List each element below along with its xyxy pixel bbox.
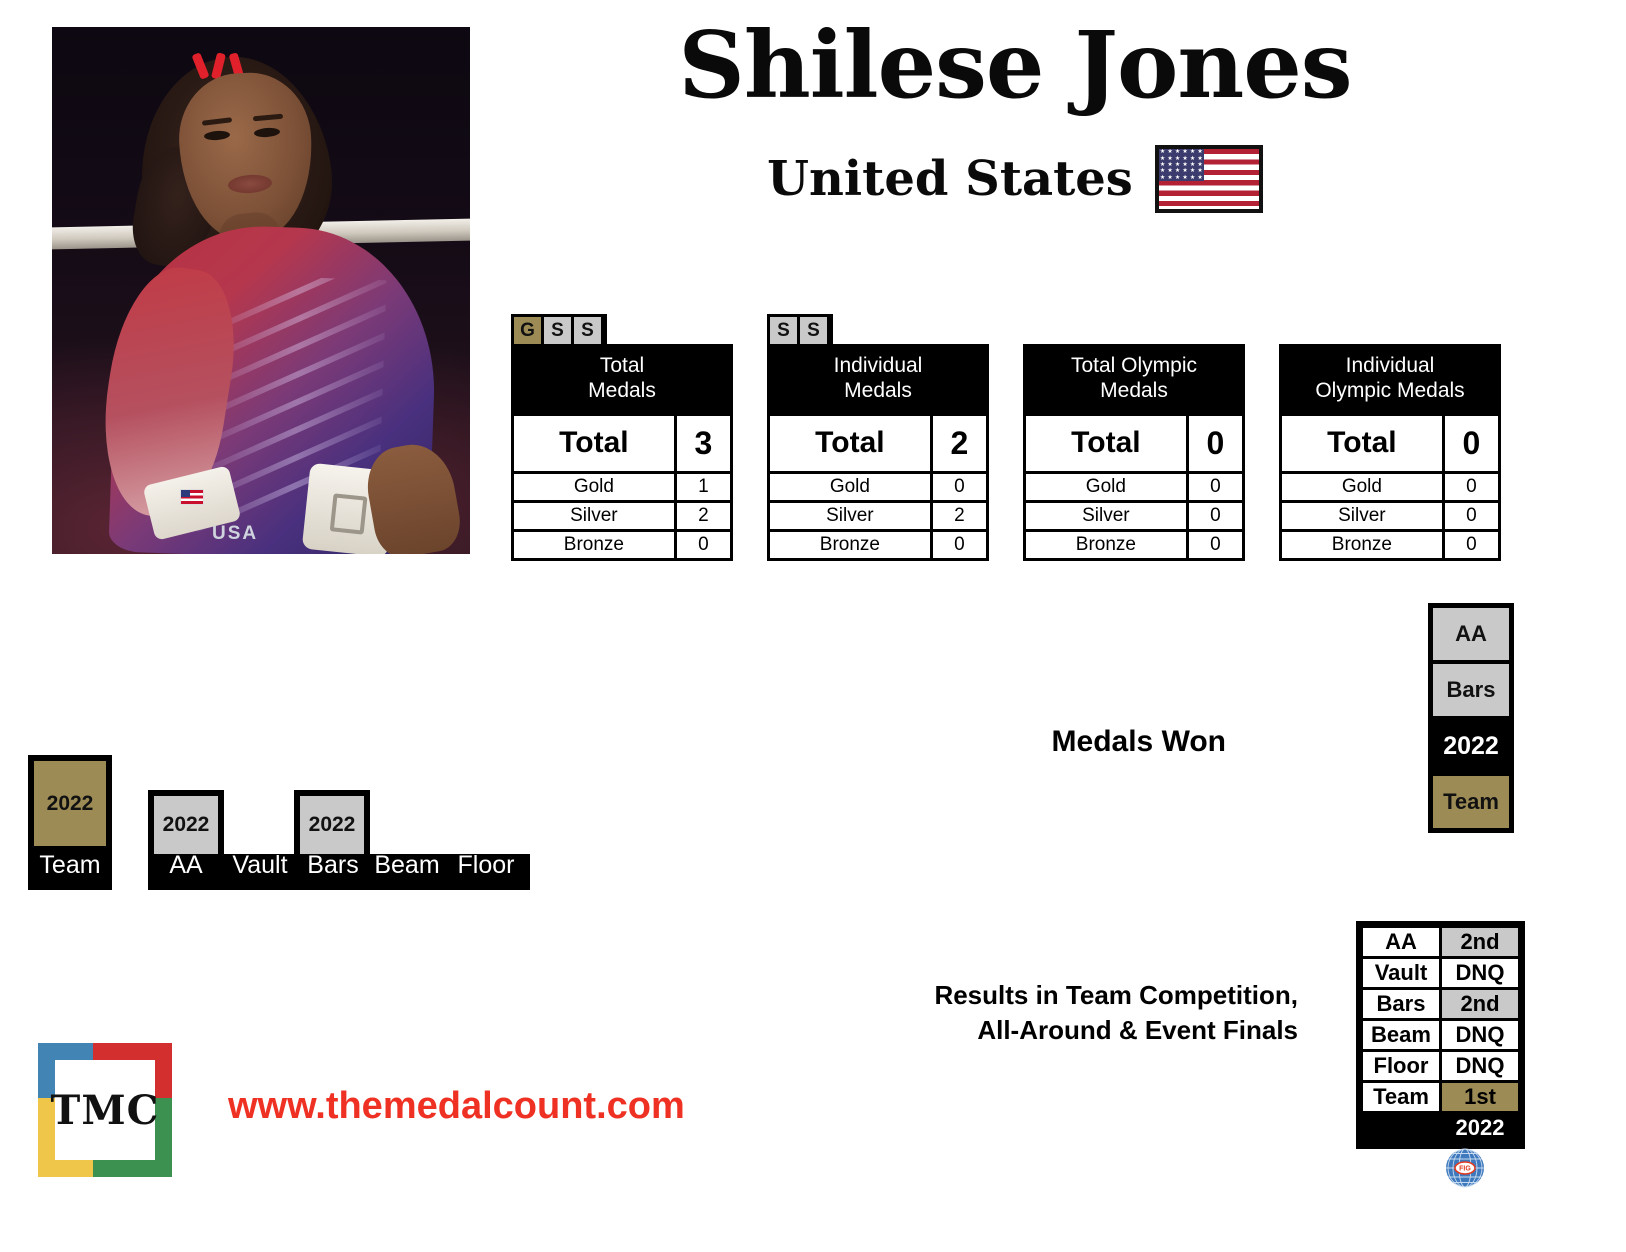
badge-silver-2: S [574, 317, 601, 344]
gold-value: 1 [677, 474, 730, 500]
results-table: AA 2nd Vault DNQ Bars 2nd Beam DNQ Floor… [1356, 921, 1525, 1149]
table-row: Vault DNQ [1363, 959, 1518, 987]
card-title-line1: Total [600, 354, 644, 377]
card-title: Total Medals [514, 347, 730, 413]
results-title-line1: Results in Team Competition, [934, 980, 1298, 1010]
medals-won-title: Medals Won [1052, 725, 1226, 759]
total-value: 0 [1445, 416, 1498, 471]
bar-label-aa: AA [150, 851, 222, 880]
silver-value: 0 [1445, 503, 1498, 529]
card-title-line1: Individual [1346, 354, 1435, 377]
bronze-label: Bronze [770, 532, 930, 558]
page-title: Shilese Jones [500, 18, 1530, 114]
medal-table: Total Olympic Medals Total 0 Gold 0 Silv… [1023, 344, 1245, 561]
results-title-line2: All-Around & Event Finals [977, 1015, 1298, 1045]
medal-card-individual-medals: S S Individual Medals Total 2 Gold 0 Sil… [767, 314, 989, 561]
gold-value: 0 [1445, 474, 1498, 500]
result-event-beam: Beam [1363, 1021, 1439, 1049]
gold-label: Gold [770, 474, 930, 500]
result-event-aa: AA [1363, 928, 1439, 956]
us-flag-icon: ★★★★★★ ★★★★★★ ★★★★★★ ★★★★★★ ★★★★★★ [1155, 145, 1263, 213]
silver-label: Silver [1026, 503, 1186, 529]
badge-silver-2: S [800, 317, 827, 344]
silver-label: Silver [514, 503, 674, 529]
medals-won-cell-bars: Bars [1433, 664, 1509, 716]
medals-won-cell-year: 2022 [1433, 720, 1509, 772]
bronze-value: 0 [1189, 532, 1242, 558]
medals-won-stack: AA Bars 2022 Team [1428, 603, 1514, 833]
result-rank-team: 1st [1442, 1083, 1518, 1111]
result-rank-vault: DNQ [1442, 959, 1518, 987]
silver-label: Silver [1282, 503, 1442, 529]
total-label: Total [1282, 416, 1442, 471]
bar-label-vault: Vault [220, 851, 300, 880]
card-title-line2: Medals [1100, 379, 1168, 402]
bar-year-team: 2022 [34, 761, 106, 846]
badge-silver-1: S [770, 317, 797, 344]
result-rank-aa: 2nd [1442, 928, 1518, 956]
medal-badge-row: G S S [511, 314, 607, 344]
silver-label: Silver [770, 503, 930, 529]
medal-badge-row-empty [1023, 314, 1245, 344]
total-value: 0 [1189, 416, 1242, 471]
medal-card-total-medals: G S S Total Medals Total 3 Gold 1 Silver… [511, 314, 733, 561]
svg-text:FIG: FIG [1459, 1166, 1471, 1173]
bar-year-aa: 2022 [154, 796, 218, 854]
bronze-label: Bronze [1026, 532, 1186, 558]
silver-value: 0 [1189, 503, 1242, 529]
bar-label-floor: Floor [446, 851, 526, 880]
total-label: Total [1026, 416, 1186, 471]
bar-year-bars: 2022 [300, 796, 364, 854]
bronze-value: 0 [1445, 532, 1498, 558]
bar-group-events: 2022 2022 AA Vault Bars Beam Floor [148, 790, 530, 890]
country-name: United States [767, 151, 1133, 207]
table-row: Beam DNQ [1363, 1021, 1518, 1049]
gold-value: 0 [933, 474, 986, 500]
medal-table: Individual Olympic Medals Total 0 Gold 0… [1279, 344, 1501, 561]
card-title-line2: Medals [844, 379, 912, 402]
result-rank-beam: DNQ [1442, 1021, 1518, 1049]
results-title: Results in Team Competition, All-Around … [934, 978, 1298, 1048]
tmc-logo: TMC [38, 1043, 172, 1177]
medal-badge-row-empty [1279, 314, 1501, 344]
table-row: AA 2nd [1363, 928, 1518, 956]
country-row: United States ★★★★★★ ★★★★★★ ★★★★★★ ★★★★★… [500, 145, 1530, 213]
table-row: Team 1st [1363, 1083, 1518, 1111]
bar-label-team: Team [28, 851, 112, 880]
badge-gold: G [514, 317, 541, 344]
gold-label: Gold [514, 474, 674, 500]
total-value: 2 [933, 416, 986, 471]
result-event-vault: Vault [1363, 959, 1439, 987]
total-label: Total [770, 416, 930, 471]
bronze-value: 0 [933, 532, 986, 558]
bar-label-bars: Bars [298, 851, 368, 880]
card-title-line1: Total Olympic [1071, 354, 1197, 377]
total-value: 3 [677, 416, 730, 471]
table-row: Bars 2nd [1363, 990, 1518, 1018]
gold-label: Gold [1026, 474, 1186, 500]
bronze-label: Bronze [514, 532, 674, 558]
card-title-line2: Olympic Medals [1315, 379, 1464, 402]
leotard-usa-text: USA [212, 523, 258, 545]
result-event-floor: Floor [1363, 1052, 1439, 1080]
bar-label-beam: Beam [366, 851, 448, 880]
medals-won-cell-team: Team [1433, 776, 1509, 828]
fig-globe-icon: FIG [1443, 1146, 1487, 1190]
card-title-line2: Medals [588, 379, 656, 402]
card-title-line1: Individual [834, 354, 923, 377]
logo-text: TMC [38, 1043, 172, 1177]
medal-table: Total Medals Total 3 Gold 1 Silver 2 Bro… [511, 344, 733, 561]
result-event-team: Team [1363, 1083, 1439, 1111]
card-title: Total Olympic Medals [1026, 347, 1242, 413]
bronze-value: 0 [677, 532, 730, 558]
bronze-label: Bronze [1282, 532, 1442, 558]
medal-card-individual-olympic-medals: Individual Olympic Medals Total 0 Gold 0… [1279, 314, 1501, 561]
card-title: Individual Olympic Medals [1282, 347, 1498, 413]
results-year-blank [1363, 1114, 1439, 1142]
athlete-photo: USA [52, 27, 470, 554]
total-label: Total [514, 416, 674, 471]
flag-canton: ★★★★★★ ★★★★★★ ★★★★★★ ★★★★★★ ★★★★★★ [1159, 149, 1204, 181]
table-row: Floor DNQ [1363, 1052, 1518, 1080]
results-year: 2022 [1442, 1114, 1518, 1142]
bar-group-team: 2022 Team [28, 755, 112, 890]
card-title: Individual Medals [770, 347, 986, 413]
silver-value: 2 [933, 503, 986, 529]
bar-gap-beam-floor [370, 790, 530, 854]
gold-label: Gold [1282, 474, 1442, 500]
result-event-bars: Bars [1363, 990, 1439, 1018]
medal-badge-row: S S [767, 314, 833, 344]
silver-value: 2 [677, 503, 730, 529]
medal-table: Individual Medals Total 2 Gold 0 Silver … [767, 344, 989, 561]
table-row-year: 2022 [1363, 1114, 1518, 1142]
results-table-body: AA 2nd Vault DNQ Bars 2nd Beam DNQ Floor… [1360, 925, 1521, 1145]
badge-silver-1: S [544, 317, 571, 344]
result-rank-floor: DNQ [1442, 1052, 1518, 1080]
site-url[interactable]: www.themedalcount.com [228, 1085, 685, 1128]
medal-card-total-olympic-medals: Total Olympic Medals Total 0 Gold 0 Silv… [1023, 314, 1245, 561]
usa-flag-patch-icon [180, 489, 204, 505]
gold-value: 0 [1189, 474, 1242, 500]
bar-gap-vault [224, 790, 294, 854]
medals-won-cell-aa: AA [1433, 608, 1509, 660]
result-rank-bars: 2nd [1442, 990, 1518, 1018]
